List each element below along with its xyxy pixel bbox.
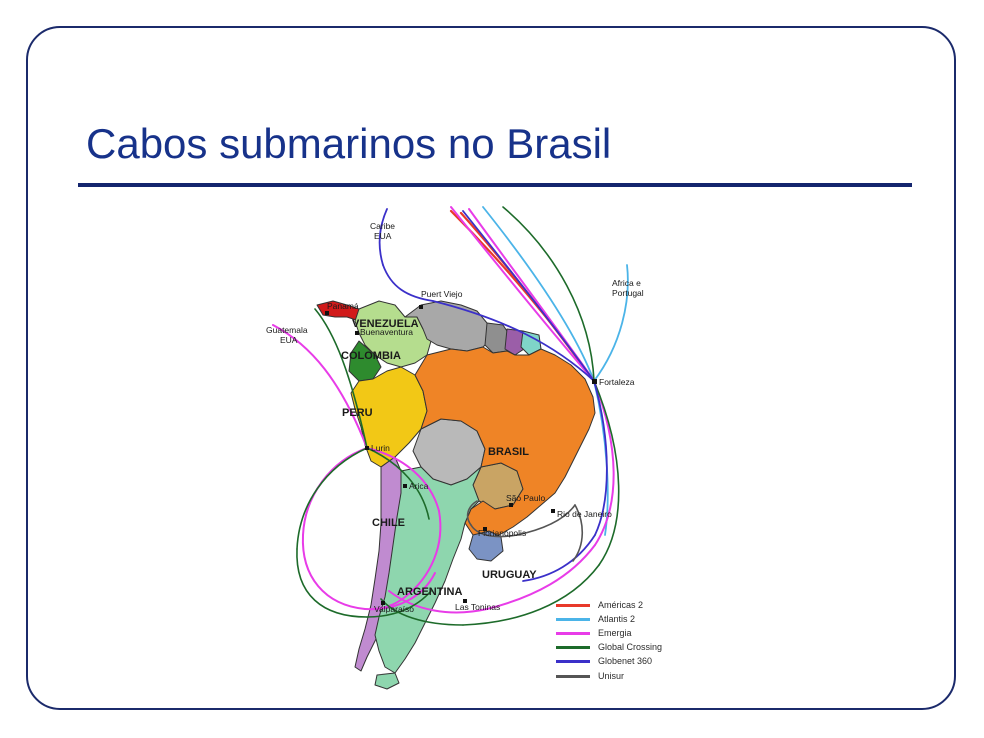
country-label-chile: CHILE	[372, 517, 405, 529]
cable-legend: Américas 2 Atlantis 2 Emergia Global Cro…	[556, 598, 696, 683]
city-label-buenaventura: Buenaventura	[360, 327, 413, 337]
legend-item-americas-2: Américas 2	[556, 598, 696, 612]
dot-sao-paulo	[509, 503, 513, 507]
legend-swatch-emergia	[556, 632, 590, 635]
country-label-peru: PERU	[342, 407, 373, 419]
city-label-lurin: Lurin	[371, 443, 390, 453]
legend-swatch-atlantis-2	[556, 618, 590, 621]
page-title: Cabos submarinos no Brasil	[86, 120, 611, 168]
country-label-brasil: BRASIL	[488, 446, 529, 458]
slide: Cabos submarinos no Brasil	[0, 0, 984, 738]
dot-lurin	[365, 446, 369, 450]
country-label-argentina: ARGENTINA	[397, 586, 462, 598]
title-underline-rule	[78, 183, 912, 187]
legend-label-emergia: Emergia	[598, 629, 632, 638]
legend-label-atlantis-2: Atlantis 2	[598, 615, 635, 624]
city-label-valparaiso: Valparaíso	[374, 604, 414, 614]
legend-label-americas-2: Américas 2	[598, 601, 643, 610]
legend-item-globenet-360: Globenet 360	[556, 655, 696, 669]
island-tierra-del-fuego	[375, 673, 399, 689]
city-label-florianopolis: Florianópolis	[478, 528, 526, 538]
legend-item-unisur: Unisur	[556, 669, 696, 683]
city-label-las-toninas: Las Toninas	[455, 602, 500, 612]
dot-panama	[325, 311, 329, 315]
legend-label-globenet-360: Globenet 360	[598, 657, 652, 666]
legend-label-global-crossing: Global Crossing	[598, 643, 662, 652]
legend-swatch-global-crossing	[556, 646, 590, 649]
destination-label-caribe-eua: Caribe	[370, 221, 395, 231]
dot-rio-de-janeiro	[551, 509, 555, 513]
city-label-rio-de-janeiro: Rio de Janeiro	[557, 509, 612, 519]
dot-buenaventura	[355, 331, 359, 335]
legend-swatch-americas-2	[556, 604, 590, 607]
city-label-panama: Panamá	[327, 301, 359, 311]
city-label-puert-viejo: Puert Viejo	[421, 289, 463, 299]
city-label-arica: Arica	[409, 481, 429, 491]
dot-fortaleza	[592, 379, 597, 384]
city-label-sao-paulo: São Paulo	[506, 493, 545, 503]
legend-item-atlantis-2: Atlantis 2	[556, 612, 696, 626]
destination-label-caribe-eua-line2: EUA	[374, 231, 392, 241]
country-label-colombia: COLOMBIA	[341, 350, 401, 362]
destination-label-guatemala-eua: Guatemala	[266, 325, 308, 335]
legend-swatch-globenet-360	[556, 660, 590, 663]
legend-swatch-unisur	[556, 675, 590, 678]
dot-puert-viejo	[419, 305, 423, 309]
legend-item-emergia: Emergia	[556, 626, 696, 640]
legend-label-unisur: Unisur	[598, 672, 624, 681]
destination-label-africa-portugal-line2: Portugal	[612, 288, 644, 298]
city-label-fortaleza: Fortaleza	[599, 377, 635, 387]
destination-label-africa-portugal: Africa e	[612, 278, 641, 288]
legend-item-global-crossing: Global Crossing	[556, 641, 696, 655]
dot-arica	[403, 484, 407, 488]
country-label-uruguay: URUGUAY	[482, 569, 537, 581]
destination-label-guatemala-eua-line2: EUA	[280, 335, 298, 345]
